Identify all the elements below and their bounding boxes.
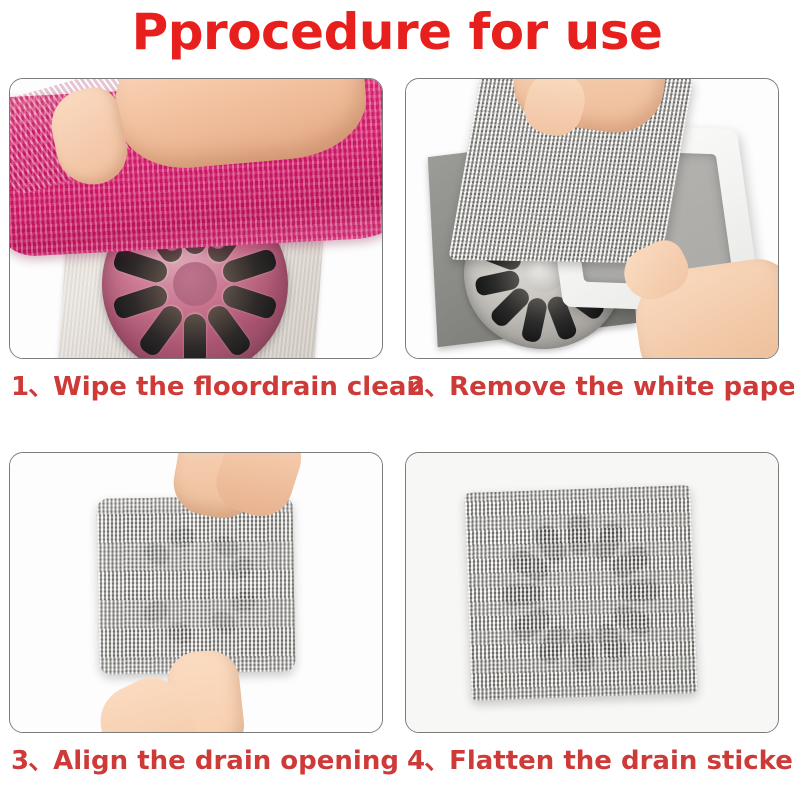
- hair-strand: [473, 524, 695, 660]
- mesh-sticker: [464, 485, 697, 701]
- drain-slot-shadow: [224, 552, 257, 584]
- drain-slot-shadow: [530, 521, 570, 567]
- drain-slot-shadow: [567, 515, 590, 556]
- hair-strand: [474, 518, 692, 669]
- step-number-2: 2、: [407, 372, 449, 402]
- wipe-drain-illustration: [10, 79, 382, 358]
- sticker-quadrant: [199, 506, 282, 581]
- drain-slot-shadow: [211, 532, 242, 560]
- hair-strand: [506, 491, 665, 700]
- step-card-4: 4、Flatten the drain sticker: [405, 452, 783, 797]
- drain-slot-shadow: [503, 583, 544, 606]
- sticker-quadrant: [108, 589, 191, 664]
- drain-outline: [119, 514, 275, 661]
- drain-slot-shadow: [589, 519, 627, 565]
- step-number-3: 3、: [11, 746, 53, 776]
- mesh-sticker: [96, 495, 295, 674]
- drain-slot-shadow: [139, 597, 171, 627]
- drain-slot-shadow: [535, 621, 573, 667]
- drain-slot-shadow: [592, 619, 632, 665]
- step-card-1: 1、Wipe the floordrain clean: [9, 78, 387, 423]
- drain-slot-shadow: [619, 579, 660, 602]
- step-caption-4: 4、Flatten the drain sticker: [407, 744, 794, 778]
- step-caption-1: 1、Wipe the floordrain clean: [11, 370, 401, 404]
- flatten-sticker-illustration: [406, 453, 778, 732]
- align-drain-illustration: [10, 453, 382, 732]
- step-text-1: Wipe the floordrain clean: [53, 372, 425, 402]
- steps-grid: 1、Wipe the floordrain clean: [0, 78, 794, 773]
- drain-hub: [173, 262, 217, 306]
- step-caption-3: 3、Align the drain opening: [11, 744, 401, 778]
- drain-slot-shadow: [607, 542, 653, 582]
- drain-slot-shadow: [228, 588, 259, 615]
- step-number-4: 4、: [407, 746, 449, 776]
- step-text-2: Remove the white paper: [449, 372, 794, 402]
- remove-paper-illustration: [406, 79, 778, 358]
- step-card-2: 2、Remove the white paper: [405, 78, 783, 423]
- drain-slot-shadow: [167, 525, 197, 550]
- sticker-quadrant: [107, 507, 190, 582]
- step-text-4: Flatten the drain sticker: [449, 746, 794, 776]
- drain-slot-shadow: [140, 539, 172, 569]
- step-number-1: 1、: [11, 372, 53, 402]
- drain-slot-shadow: [207, 607, 240, 638]
- step-card-3: 3、Align the drain opening: [9, 452, 387, 797]
- step-photo-1: [9, 78, 383, 359]
- drain-slot-shadow: [571, 631, 594, 672]
- hair-strand: [500, 495, 667, 695]
- step-photo-3: [9, 452, 383, 733]
- step-caption-2: 2、Remove the white paper: [407, 370, 794, 404]
- drain-slot-shadow: [509, 604, 555, 644]
- page-title: Pprocedure for use: [0, 2, 794, 62]
- step-photo-4: [405, 452, 779, 733]
- drain-slot-shadow: [507, 547, 553, 585]
- drain-slot-shadow: [165, 620, 195, 646]
- step-photo-2: [405, 78, 779, 359]
- step-text-3: Align the drain opening: [53, 746, 399, 776]
- drain-outline: [483, 506, 677, 684]
- drain-slot: [184, 314, 206, 358]
- drain-slot-shadow: [609, 601, 655, 639]
